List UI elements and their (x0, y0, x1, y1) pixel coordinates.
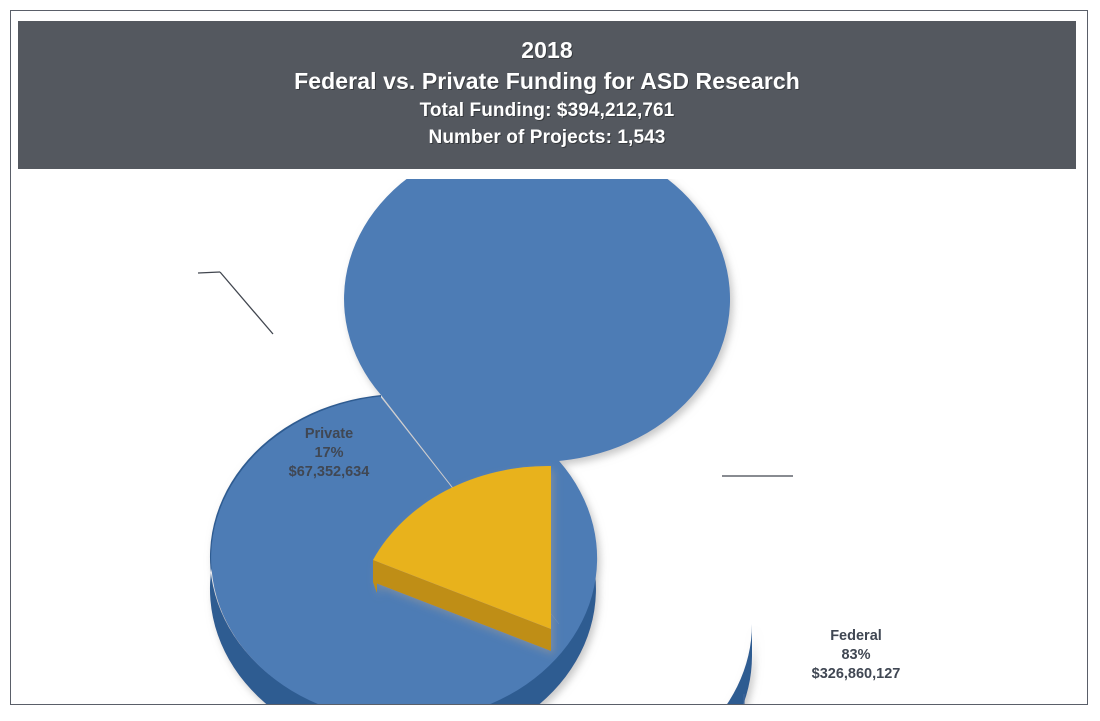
data-label-federal-amount: $326,860,127 (791, 665, 921, 684)
data-label-private-percent: 17% (269, 444, 389, 463)
data-label-federal-percent: 83% (791, 646, 921, 665)
chart-title-year: 2018 (521, 35, 573, 65)
chart-plot-area: Private 17% $67,352,634 Federal 83% $326… (11, 179, 1087, 704)
data-label-private-name: Private (269, 425, 389, 444)
leader-line-private (198, 272, 273, 334)
data-label-federal: Federal 83% $326,860,127 (791, 627, 921, 684)
data-label-federal-name: Federal (791, 627, 921, 646)
pie-chart-3d (11, 179, 1087, 704)
data-label-private: Private 17% $67,352,634 (269, 425, 389, 482)
data-label-private-amount: $67,352,634 (269, 463, 389, 482)
chart-title-main: Federal vs. Private Funding for ASD Rese… (294, 65, 800, 97)
chart-frame: 2018 Federal vs. Private Funding for ASD… (10, 10, 1088, 705)
chart-title-banner: 2018 Federal vs. Private Funding for ASD… (18, 21, 1076, 169)
chart-subtitle-number-of-projects: Number of Projects: 1,543 (429, 124, 666, 151)
chart-subtitle-total-funding: Total Funding: $394,212,761 (420, 97, 675, 124)
